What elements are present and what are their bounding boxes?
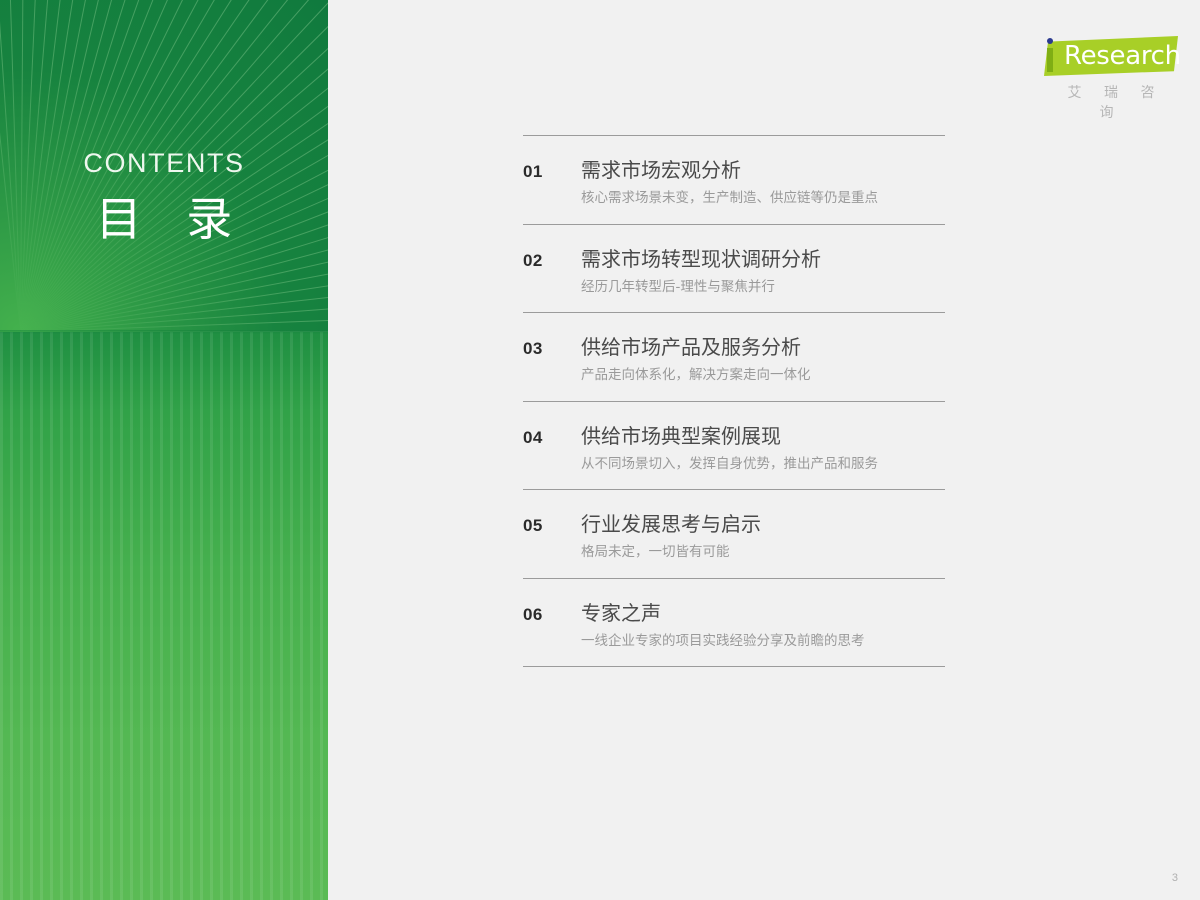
logo-chinese-subtitle: 艾 瑞 咨 询 — [1044, 82, 1178, 122]
toc-entry-number: 05 — [523, 516, 581, 536]
contents-chinese-heading: 目 录 — [0, 193, 328, 246]
toc-entry-subtitle: 格局未定，一切皆有可能 — [581, 544, 945, 562]
toc-entry[interactable]: 03供给市场产品及服务分析产品走向体系化，解决方案走向一体化 — [523, 312, 945, 401]
logo-i-stem-icon — [1047, 48, 1053, 72]
left-green-panel: CONTENTS 目 录 — [0, 0, 328, 900]
toc-entry-subtitle: 从不同场景切入，发挥自身优势，推出产品和服务 — [581, 456, 945, 474]
toc-entry-title: 行业发展思考与启示 — [581, 512, 945, 537]
toc-entry-number: 01 — [523, 162, 581, 182]
toc-entry-number: 04 — [523, 428, 581, 448]
toc-entry-row: 04供给市场典型案例展现从不同场景切入，发挥自身优势，推出产品和服务 — [523, 424, 945, 474]
toc-entry-row: 05行业发展思考与启示格局未定，一切皆有可能 — [523, 512, 945, 562]
toc-entry-row: 02需求市场转型现状调研分析经历几年转型后-理性与聚焦并行 — [523, 247, 945, 297]
toc-entry-row: 03供给市场产品及服务分析产品走向体系化，解决方案走向一体化 — [523, 335, 945, 385]
toc-entry-number: 06 — [523, 605, 581, 625]
slide-root: CONTENTS 目 录 01需求市场宏观分析核心需求场景未变，生产制造、供应链… — [0, 0, 1200, 900]
panel-heading-group: CONTENTS 目 录 — [0, 150, 328, 246]
toc-entry-title: 需求市场宏观分析 — [581, 158, 945, 183]
panel-seam-divider — [0, 330, 328, 334]
toc-entry-subtitle: 产品走向体系化，解决方案走向一体化 — [581, 367, 945, 385]
toc-entry-title: 供给市场典型案例展现 — [581, 424, 945, 449]
toc-entry[interactable]: 06专家之声一线企业专家的项目实践经验分享及前瞻的思考 — [523, 578, 945, 668]
toc-entry-subtitle: 一线企业专家的项目实践经验分享及前瞻的思考 — [581, 633, 945, 651]
toc-entry-title: 供给市场产品及服务分析 — [581, 335, 945, 360]
toc-entry-number: 02 — [523, 251, 581, 271]
toc-entry-subtitle: 经历几年转型后-理性与聚焦并行 — [581, 279, 945, 297]
contents-english-heading: CONTENTS — [0, 150, 328, 177]
toc-entry-text-group: 需求市场转型现状调研分析经历几年转型后-理性与聚焦并行 — [581, 247, 945, 297]
toc-entry-number: 03 — [523, 339, 581, 359]
vertical-stripes-decoration — [0, 332, 328, 900]
iresearch-logo: Research 艾 瑞 咨 询 — [1026, 34, 1178, 110]
toc-entry[interactable]: 01需求市场宏观分析核心需求场景未变，生产制造、供应链等仍是重点 — [523, 135, 945, 224]
logo-mark: Research — [1026, 34, 1178, 78]
toc-entry[interactable]: 02需求市场转型现状调研分析经历几年转型后-理性与聚焦并行 — [523, 224, 945, 313]
toc-entry-title: 专家之声 — [581, 601, 945, 626]
toc-entry-text-group: 供给市场产品及服务分析产品走向体系化，解决方案走向一体化 — [581, 335, 945, 385]
toc-entry-row: 06专家之声一线企业专家的项目实践经验分享及前瞻的思考 — [523, 601, 945, 651]
toc-entry-row: 01需求市场宏观分析核心需求场景未变，生产制造、供应链等仍是重点 — [523, 158, 945, 208]
toc-entry-text-group: 行业发展思考与启示格局未定，一切皆有可能 — [581, 512, 945, 562]
toc-entry[interactable]: 05行业发展思考与启示格局未定，一切皆有可能 — [523, 489, 945, 578]
toc-entry-text-group: 供给市场典型案例展现从不同场景切入，发挥自身优势，推出产品和服务 — [581, 424, 945, 474]
toc-entry-text-group: 专家之声一线企业专家的项目实践经验分享及前瞻的思考 — [581, 601, 945, 651]
toc-entry-title: 需求市场转型现状调研分析 — [581, 247, 945, 272]
logo-wordmark: Research — [1064, 41, 1181, 71]
table-of-contents: 01需求市场宏观分析核心需求场景未变，生产制造、供应链等仍是重点02需求市场转型… — [523, 135, 945, 667]
toc-entry-text-group: 需求市场宏观分析核心需求场景未变，生产制造、供应链等仍是重点 — [581, 158, 945, 208]
page-number: 3 — [1172, 872, 1178, 884]
striped-gradient-area — [0, 332, 328, 900]
logo-i-dot-icon — [1047, 38, 1053, 44]
toc-entry[interactable]: 04供给市场典型案例展现从不同场景切入，发挥自身优势，推出产品和服务 — [523, 401, 945, 490]
toc-entry-subtitle: 核心需求场景未变，生产制造、供应链等仍是重点 — [581, 190, 945, 208]
